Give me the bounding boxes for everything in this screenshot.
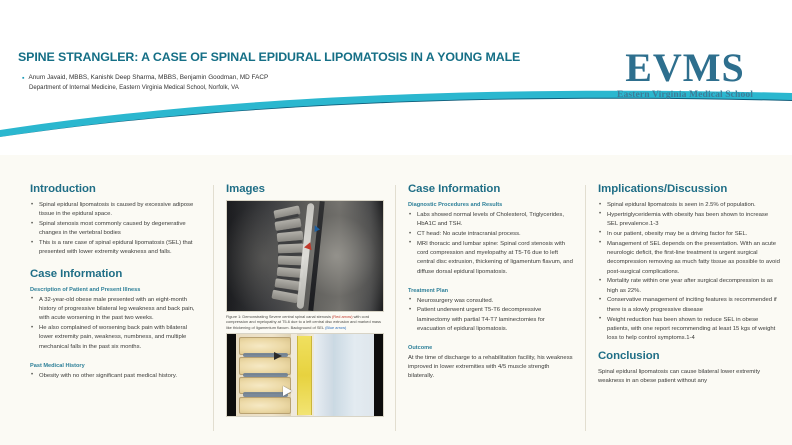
heading-case-information-left: Case Information: [30, 268, 201, 281]
evms-logo-wordmark: EVMS: [594, 48, 776, 88]
list-item: Spinal stenosis most commonly caused by …: [30, 220, 201, 239]
description-bullet-list: A 32-year-old obese male presented with …: [30, 296, 201, 352]
list-item: Obesity with no other significant past m…: [30, 372, 201, 381]
column-divider: [585, 185, 586, 431]
anatomical-illustration-image: [226, 333, 384, 417]
subheading-diagnostic-procedures: Diagnostic Procedures and Results: [408, 201, 575, 209]
list-item: MRI thoracic and lumbar spine: Spinal co…: [408, 240, 575, 277]
list-item: Neurosurgery was consulted.: [408, 297, 575, 306]
subheading-past-medical-history: Past Medical History: [30, 362, 201, 370]
outcome-text: At the time of discharge to a rehabilita…: [408, 354, 575, 382]
caption-part-1: Figure 1: Demonstrating Severe central s…: [226, 314, 332, 319]
diagnostic-bullet-list: Labs showed normal levels of Cholesterol…: [408, 211, 575, 277]
poster-canvas: SPINE STRANGLER: A CASE OF SPINAL EPIDUR…: [0, 0, 792, 445]
author-names: Anum Javaid, MBBS, Kanishk Deep Sharma, …: [28, 73, 268, 82]
column-introduction: Introduction Spinal epidural lipomatosis…: [0, 155, 213, 445]
treatment-bullet-list: Neurosurgery was consulted. Patient unde…: [408, 297, 575, 335]
subheading-outcome: Outcome: [408, 344, 575, 352]
heading-images: Images: [226, 183, 385, 196]
list-item: CT head: No acute intracranial process.: [408, 230, 575, 239]
poster-columns: Introduction Spinal epidural lipomatosis…: [0, 155, 792, 445]
list-item: Conservative management of inciting feat…: [598, 296, 780, 315]
list-item: This is a rare case of spinal epidural l…: [30, 239, 201, 258]
introduction-bullet-list: Spinal epidural lipomatosis is caused by…: [30, 201, 201, 258]
mri-sagittal-spine-image: [226, 200, 384, 312]
caption-red-arrow-label: (Red arrow): [332, 314, 353, 319]
list-item: A 32-year-old obese male presented with …: [30, 296, 201, 324]
list-item: Mortality rate within one year after sur…: [598, 277, 780, 296]
bullet-icon: ▪: [22, 74, 24, 83]
implications-bullet-list: Spinal epidural lipomatosis is seen in 2…: [598, 201, 780, 343]
poster-title: SPINE STRANGLER: A CASE OF SPINAL EPIDUR…: [18, 50, 588, 64]
heading-case-information: Case Information: [408, 183, 575, 196]
list-item: Weight reduction has been shown to reduc…: [598, 316, 780, 344]
column-divider: [395, 185, 396, 431]
list-item: Spinal epidural lipomatosis is seen in 2…: [598, 201, 780, 210]
column-implications: Implications/Discussion Spinal epidural …: [585, 155, 792, 445]
list-item: Management of SEL depends on the present…: [598, 240, 780, 277]
column-divider: [213, 185, 214, 431]
subheading-description-of-patient: Description of Patient and Present Illne…: [30, 286, 201, 294]
list-item: Labs showed normal levels of Cholesterol…: [408, 211, 575, 230]
list-item: Patient underwent urgent T5-T6 decompres…: [408, 306, 575, 334]
heading-introduction: Introduction: [30, 183, 201, 196]
list-item: In our patient, obesity may be a driving…: [598, 230, 780, 239]
poster-header: SPINE STRANGLER: A CASE OF SPINAL EPIDUR…: [0, 0, 792, 155]
pmh-bullet-list: Obesity with no other significant past m…: [30, 372, 201, 381]
caption-blue-arrow-label: (Blue arrow): [325, 325, 346, 330]
heading-conclusion: Conclusion: [598, 350, 780, 363]
heading-implications-discussion: Implications/Discussion: [598, 183, 780, 196]
conclusion-text: Spinal epidural lipomatosis can cause bi…: [598, 368, 780, 387]
evms-logo-subtitle: Eastern Virginia Medical School: [594, 89, 776, 101]
dark-arrow-annotation: [274, 352, 282, 360]
evms-logo: EVMS Eastern Virginia Medical School: [594, 48, 776, 101]
author-affiliation: Department of Internal Medicine, Eastern…: [29, 83, 542, 92]
figure-1-caption: Figure 1: Demonstrating Severe central s…: [226, 314, 384, 330]
list-item: He also complained of worsening back pai…: [30, 324, 201, 352]
column-images: Images: [213, 155, 395, 445]
author-block: ▪ Anum Javaid, MBBS, Kanishk Deep Sharma…: [22, 73, 542, 92]
subheading-treatment-plan: Treatment Plan: [408, 287, 575, 295]
list-item: Hypertriglyceridemia with obesity has be…: [598, 211, 780, 230]
column-case-information: Case Information Diagnostic Procedures a…: [395, 155, 585, 445]
list-item: Spinal epidural lipomatosis is caused by…: [30, 201, 201, 220]
white-arrow-annotation: [283, 386, 292, 396]
figure-1: Figure 1: Demonstrating Severe central s…: [226, 200, 385, 330]
